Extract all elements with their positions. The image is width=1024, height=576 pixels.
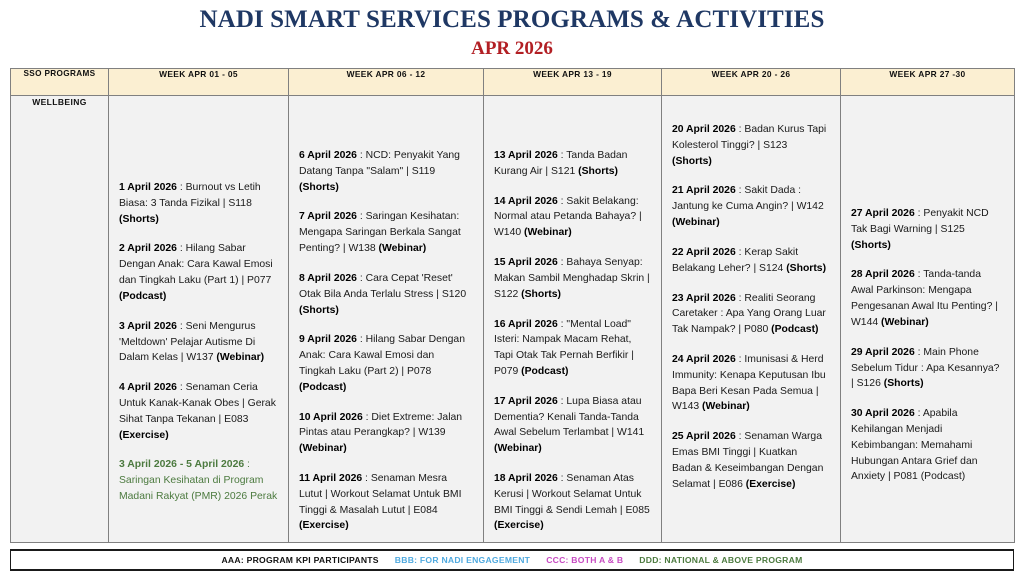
entry-date: 13 April 2026 — [494, 150, 558, 161]
week-cell-1: 1 April 2026 : Burnout vs Letih Biasa: 3… — [109, 96, 289, 543]
entry-title: Saringan Kesihatan di Program Madani Rak… — [119, 475, 277, 502]
programs-table-wrapper: SSO PROGRAMS WEEK APR 01 - 05 WEEK APR 0… — [10, 68, 1014, 543]
entry-date: 21 April 2026 — [672, 185, 736, 196]
entry-date: 14 April 2026 — [494, 196, 558, 207]
program-entry: 4 April 2026 : Senaman Ceria Untuk Kanak… — [119, 380, 278, 443]
program-entry: 22 April 2026 : Kerap Sakit Belakang Leh… — [672, 245, 830, 277]
entry-type-tag: (Shorts) — [299, 305, 339, 316]
entry-type-tag: (Podcast) — [771, 324, 818, 335]
week-cell-5: 27 April 2026 : Penyakit NCD Tak Bagi Wa… — [841, 96, 1015, 543]
program-entry: 29 April 2026 : Main Phone Sebelum Tidur… — [851, 345, 1004, 392]
week-cell-4: 20 April 2026 : Badan Kurus Tapi Koleste… — [662, 96, 841, 543]
program-entry: 10 April 2026 : Diet Extreme: Jalan Pint… — [299, 410, 473, 457]
legend-item-aaa: AAA: PROGRAM KPI PARTICIPANTS — [221, 555, 378, 565]
program-entry: 15 April 2026 : Bahaya Senyap: Makan Sam… — [494, 255, 651, 302]
entry-type-tag: (Shorts) — [786, 263, 826, 274]
program-entry: 2 April 2026 : Hilang Sabar Dengan Anak:… — [119, 241, 278, 304]
program-entry: 30 April 2026 : Apabila Kehilangan Menja… — [851, 406, 1004, 485]
entry-type-tag: (Podcast) — [521, 366, 568, 377]
program-entry: 28 April 2026 : Tanda-tanda Awal Parkins… — [851, 267, 1004, 330]
entry-separator: : — [244, 459, 250, 470]
program-entry: 21 April 2026 : Sakit Dada : Jantung ke … — [672, 183, 830, 230]
legend-item-bbb: BBB: FOR NADI ENGAGEMENT — [395, 555, 530, 565]
legend-item-ddd: DDD: NATIONAL & ABOVE PROGRAM — [639, 555, 802, 565]
program-entry: 14 April 2026 : Sakit Belakang: Normal a… — [494, 194, 651, 241]
entry-separator: : — [362, 473, 371, 484]
entry-date: 3 April 2026 - 5 April 2026 — [119, 459, 244, 470]
entry-date: 2 April 2026 — [119, 243, 177, 254]
entry-separator: : — [177, 182, 186, 193]
category-label-wellbeing: WELLBEING — [11, 96, 109, 543]
entry-separator: : — [357, 334, 366, 345]
entry-type-tag: (Podcast) — [119, 291, 166, 302]
entry-date: 8 April 2026 — [299, 273, 357, 284]
entry-date: 11 April 2026 — [299, 473, 362, 484]
entry-type-tag: (Exercise) — [494, 520, 544, 531]
calendar-page: NADI SMART SERVICES PROGRAMS & ACTIVITIE… — [0, 0, 1024, 576]
entry-type-tag: (Webinar) — [216, 352, 264, 363]
programs-table: SSO PROGRAMS WEEK APR 01 - 05 WEEK APR 0… — [10, 68, 1015, 543]
entry-separator: : — [177, 243, 186, 254]
program-entry: 1 April 2026 : Burnout vs Letih Biasa: 3… — [119, 180, 278, 227]
entry-type-tag: (Exercise) — [299, 520, 349, 531]
entry-date: 6 April 2026 — [299, 150, 357, 161]
entry-type-tag: (Exercise) — [746, 479, 796, 490]
entry-separator: : — [357, 273, 366, 284]
week-cell-2: 6 April 2026 : NCD: Penyakit Yang Datang… — [289, 96, 484, 543]
column-header-week-2: WEEK APR 06 - 12 — [289, 69, 484, 96]
entry-date: 27 April 2026 — [851, 208, 915, 219]
entry-type-tag: (Shorts) — [884, 378, 924, 389]
table-header: SSO PROGRAMS WEEK APR 01 - 05 WEEK APR 0… — [11, 69, 1015, 96]
entry-date: 3 April 2026 — [119, 321, 177, 332]
program-entry: 13 April 2026 : Tanda Badan Kurang Air |… — [494, 148, 651, 180]
entry-date: 22 April 2026 — [672, 247, 736, 258]
entry-type-tag: (Webinar) — [702, 401, 750, 412]
entry-date: 17 April 2026 — [494, 396, 558, 407]
program-entry: 17 April 2026 : Lupa Biasa atau Dementia… — [494, 394, 651, 457]
column-header-week-1: WEEK APR 01 - 05 — [109, 69, 289, 96]
entry-type-tag: (Webinar) — [379, 243, 427, 254]
entry-date: 18 April 2026 — [494, 473, 558, 484]
week-cell-3: 13 April 2026 : Tanda Badan Kurang Air |… — [484, 96, 662, 543]
program-entry: 7 April 2026 : Saringan Kesihatan: Menga… — [299, 209, 473, 256]
entry-date: 16 April 2026 — [494, 319, 558, 330]
entry-date: 1 April 2026 — [119, 182, 177, 193]
entry-type-tag: (Shorts) — [578, 166, 618, 177]
program-entry: 8 April 2026 : Cara Cepat 'Reset' Otak B… — [299, 271, 473, 318]
entry-separator: : — [177, 321, 186, 332]
entry-date: 28 April 2026 — [851, 269, 915, 280]
program-entry: 3 April 2026 : Seni Mengurus 'Meltdown' … — [119, 319, 278, 366]
column-header-week-4: WEEK APR 20 - 26 — [662, 69, 841, 96]
legend-item-ccc: CCC: BOTH A & B — [546, 555, 623, 565]
entry-type-tag: (Podcast) — [921, 471, 965, 482]
column-header-sso-programs: SSO PROGRAMS — [11, 69, 109, 96]
entry-date: 20 April 2026 — [672, 124, 736, 135]
entry-type-tag: (Shorts) — [521, 289, 561, 300]
program-entry: 25 April 2026 : Senaman Warga Emas BMI T… — [672, 429, 830, 492]
program-entry: 27 April 2026 : Penyakit NCD Tak Bagi Wa… — [851, 206, 1004, 253]
entry-date: 29 April 2026 — [851, 347, 915, 358]
title-block: NADI SMART SERVICES PROGRAMS & ACTIVITIE… — [0, 0, 1024, 60]
entry-type-tag: (Shorts) — [299, 182, 339, 193]
entry-separator: : — [177, 382, 186, 393]
entry-separator: : — [357, 150, 366, 161]
program-entry: 6 April 2026 : NCD: Penyakit Yang Datang… — [299, 148, 473, 195]
legend-bar: AAA: PROGRAM KPI PARTICIPANTSBBB: FOR NA… — [10, 549, 1014, 571]
program-entry: 18 April 2026 : Senaman Atas Kerusi | Wo… — [494, 471, 651, 534]
entry-date: 9 April 2026 — [299, 334, 357, 345]
entry-date: 10 April 2026 — [299, 412, 363, 423]
program-entry: 3 April 2026 - 5 April 2026 : Saringan K… — [119, 457, 278, 504]
entry-type-tag: (Webinar) — [494, 443, 542, 454]
entry-separator: : — [357, 211, 366, 222]
column-header-week-3: WEEK APR 13 - 19 — [484, 69, 662, 96]
entry-date: 23 April 2026 — [672, 293, 736, 304]
program-entry: 24 April 2026 : Imunisasi & Herd Immunit… — [672, 352, 830, 415]
entry-separator: : — [915, 408, 923, 419]
page-title: NADI SMART SERVICES PROGRAMS & ACTIVITIE… — [0, 6, 1024, 35]
page-subtitle: APR 2026 — [0, 38, 1024, 60]
entry-type-tag: (Webinar) — [881, 317, 929, 328]
entry-type-tag: (Shorts) — [851, 240, 891, 251]
entry-type-tag: (Webinar) — [672, 217, 720, 228]
entry-type-tag: (Exercise) — [119, 430, 169, 441]
entry-date: 15 April 2026 — [494, 257, 558, 268]
entry-date: 30 April 2026 — [851, 408, 915, 419]
table-body: WELLBEING 1 April 2026 : Burnout vs Leti… — [11, 96, 1015, 543]
program-entry: 9 April 2026 : Hilang Sabar Dengan Anak:… — [299, 332, 473, 395]
program-entry: 23 April 2026 : Realiti Seorang Caretake… — [672, 291, 830, 338]
entry-date: 24 April 2026 — [672, 354, 736, 365]
entry-type-tag: (Webinar) — [524, 227, 572, 238]
entry-type-tag: (Shorts) — [672, 156, 712, 167]
entry-separator: : — [915, 269, 923, 280]
program-entry: 20 April 2026 : Badan Kurus Tapi Koleste… — [672, 122, 830, 169]
table-row: WELLBEING 1 April 2026 : Burnout vs Leti… — [11, 96, 1015, 543]
legend-items: AAA: PROGRAM KPI PARTICIPANTSBBB: FOR NA… — [221, 555, 802, 565]
entry-separator: : — [558, 150, 566, 161]
entry-type-tag: (Podcast) — [299, 382, 346, 393]
column-header-week-5: WEEK APR 27 -30 — [841, 69, 1015, 96]
entry-type-tag: (Webinar) — [299, 443, 347, 454]
program-entry: 16 April 2026 : "Mental Load" Isteri: Na… — [494, 317, 651, 380]
entry-date: 4 April 2026 — [119, 382, 177, 393]
program-entry: 11 April 2026 : Senaman Mesra Lutut | Wo… — [299, 471, 473, 534]
table-header-row: SSO PROGRAMS WEEK APR 01 - 05 WEEK APR 0… — [11, 69, 1015, 96]
entry-date: 25 April 2026 — [672, 431, 736, 442]
entry-date: 7 April 2026 — [299, 211, 357, 222]
entry-type-tag: (Shorts) — [119, 214, 159, 225]
